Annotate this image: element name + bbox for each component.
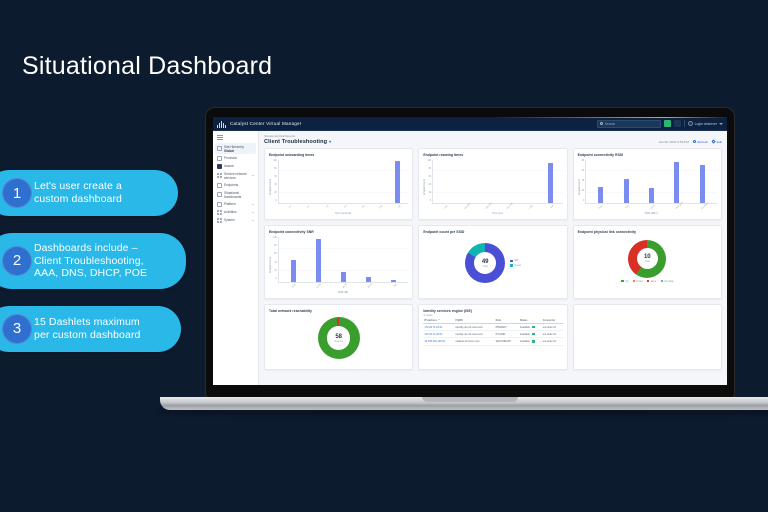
- hamburger-icon[interactable]: [217, 135, 223, 140]
- chevron-down-icon: [252, 175, 254, 176]
- y-tick: 100: [273, 237, 277, 239]
- legend-swatch: [633, 280, 636, 283]
- status-badge: [532, 340, 535, 343]
- sidebar-item-assure[interactable]: Assure: [215, 162, 256, 170]
- chevron-down-icon: [252, 204, 254, 205]
- donut-ring: 49 Total: [465, 243, 505, 283]
- ise-table: IP addressFQDNRoleStatusConnector 172.26…: [423, 318, 562, 346]
- app-title: Catalyst Center Virtual Manager: [230, 121, 301, 126]
- bar[interactable]: [624, 179, 629, 202]
- laptop-base: [160, 397, 768, 410]
- y-tick: 40: [582, 180, 585, 182]
- dashlet-total-network-reachability: Total network reachability 58 Devices: [264, 304, 413, 370]
- callout-number-1: 1: [2, 178, 32, 208]
- y-tick: 0: [427, 200, 431, 202]
- pencil-icon: [712, 139, 716, 143]
- laptop-shadow: [160, 410, 768, 415]
- table-cell-fqdn: identity-ise-10.cisco.com: [455, 331, 495, 338]
- legend-item[interactable]: Wifi: [510, 259, 521, 262]
- chevron-down-icon[interactable]: ▾: [329, 139, 331, 144]
- page-title: Situational Dashboard: [22, 52, 272, 81]
- donut-legend: UpDownErrorNo data: [621, 280, 673, 283]
- assure-icon: [217, 164, 222, 169]
- legend-label: Wifi: [514, 259, 518, 262]
- breadcrumb: Situational Dashboards: [264, 134, 331, 138]
- donut-center-label: Total: [483, 265, 488, 268]
- avatar: [688, 121, 693, 126]
- donut-chart: 10 Total UpDownErrorNo data: [578, 235, 717, 288]
- bar[interactable]: [674, 162, 679, 203]
- table-row[interactable]: 172.26.71.20.01identity-ise-10.cisco.com…: [423, 331, 562, 338]
- dashlet-endpoint-count-per-ssid: Endpoint count per SSID 49 Total WifiGue…: [418, 225, 567, 299]
- main-content: Situational Dashboards Client Troublesho…: [259, 131, 727, 385]
- y-tick: 20: [273, 192, 277, 194]
- y-tick: 0: [273, 278, 277, 280]
- y-axis-label: Endpoint count: [423, 179, 426, 195]
- divider: [684, 120, 685, 127]
- sidebar-item-label: Site Hierarchy: [224, 145, 244, 149]
- search-icon: [600, 122, 603, 125]
- sort-icon[interactable]: [438, 319, 440, 320]
- x-axis-label: Time (seconds): [278, 212, 408, 215]
- table-cell-role: PRIMARY: [495, 324, 519, 331]
- bar[interactable]: [700, 165, 705, 203]
- y-tick: 80: [582, 160, 585, 162]
- bar[interactable]: [395, 161, 400, 203]
- callout-item-1: 1 Let's user create a custom dashboard: [0, 170, 178, 216]
- global-search-input[interactable]: Search: [597, 120, 661, 128]
- y-tick: 20: [427, 192, 431, 194]
- dashlet-title: Endpoint connectivity RSSI: [578, 153, 717, 157]
- bar[interactable]: [341, 272, 346, 281]
- sidebar-item-endpoints[interactable]: Endpoints: [215, 181, 256, 189]
- legend-item[interactable]: Error: [647, 280, 657, 283]
- y-axis-label: Endpoint count: [578, 179, 581, 195]
- search-placeholder: Search: [605, 122, 616, 126]
- services-icon: [217, 173, 222, 178]
- dashlet-row-1: Endpoint onboarding times Endpoint count…: [264, 148, 722, 220]
- dashlet-endpoint-physical-link-connectivity: Endpoint physical link connectivity 10 T…: [573, 225, 722, 299]
- status-badge: [532, 326, 535, 329]
- table-cell-connector: ent-dnac-01: [542, 338, 563, 345]
- dashlet-title: Endpoint physical link connectivity: [578, 230, 717, 234]
- bar-chart: Endpoint count 100806040200 0-11-22-33-4…: [269, 158, 408, 215]
- refresh-icon: [693, 140, 696, 143]
- dashlet-row-2: Endpoint connectivity SNR Endpoint count…: [264, 225, 722, 299]
- bar[interactable]: [391, 280, 396, 281]
- page-header-actions: Jan 20, 2024 3:53 PM Refresh Edit: [659, 140, 722, 145]
- laptop-lid: Catalyst Center Virtual Manager Search L…: [206, 108, 734, 397]
- donut-chart: 49 Total WifiGuest: [423, 235, 562, 292]
- y-tick: 20: [273, 270, 277, 272]
- legend-swatch: [621, 280, 624, 283]
- table-cell-status: Available: [519, 331, 542, 338]
- system-icon: [217, 218, 222, 223]
- sidebar: Site Hierarchy Global Provision Assure: [213, 131, 259, 385]
- edit-button[interactable]: Edit: [712, 140, 722, 144]
- dashlet-title: Endpoint onboarding times: [269, 153, 408, 157]
- laptop-screen: Catalyst Center Virtual Manager Search L…: [213, 117, 727, 385]
- sidebar-item-label: Activities: [224, 210, 250, 214]
- y-tick: 0: [582, 200, 585, 202]
- cisco-logo-icon: [217, 120, 226, 128]
- user-label: Login observer: [695, 122, 717, 126]
- sidebar-item-label: Platform: [224, 202, 250, 206]
- bar-chart: Endpoint count 100806040200 0-5050-10010…: [423, 158, 562, 215]
- legend-item[interactable]: Up: [621, 280, 628, 283]
- status-indicator-icon[interactable]: [664, 120, 671, 127]
- y-tick: 40: [273, 262, 277, 264]
- user-menu[interactable]: Login observer: [688, 121, 723, 126]
- sidebar-item-site-hierarchy[interactable]: Site Hierarchy Global: [215, 143, 256, 154]
- bar[interactable]: [291, 260, 296, 281]
- bar-chart: Endpoint count 806040200 PoorFairGoodVer…: [578, 158, 717, 215]
- y-tick: 80: [273, 168, 277, 170]
- callout-number-3: 3: [2, 314, 32, 344]
- table-cell-ip[interactable]: 172.26.71.18.01: [423, 324, 454, 331]
- chevron-down-icon: [252, 220, 254, 221]
- page-header: Situational Dashboards Client Troublesho…: [264, 134, 722, 145]
- dashlet-endpoint-roaming-times: Endpoint roaming times Endpoint count 10…: [418, 148, 567, 220]
- sidebar-item-situational-dashboards[interactable]: Situational Dashboards: [215, 189, 256, 200]
- plot-area: [278, 160, 408, 204]
- legend-label: Guest: [514, 264, 521, 267]
- y-axis-label: Endpoint count: [269, 257, 272, 273]
- sidebar-item-sub: Global: [224, 149, 254, 153]
- legend-swatch: [647, 280, 650, 283]
- y-tick: 100: [427, 160, 431, 162]
- legend-item[interactable]: Guest: [510, 264, 521, 267]
- dashboard-icon: [217, 192, 222, 197]
- x-axis-label: Time (ms): [432, 212, 562, 215]
- sidebar-item-label: Endpoints: [224, 183, 254, 187]
- sidebar-item-label: Situational Dashboards: [224, 191, 254, 199]
- dashlet-title: Endpoint count per SSID: [423, 230, 562, 234]
- sidebar-item-activities[interactable]: Activities: [215, 208, 256, 216]
- y-tick: 40: [273, 184, 277, 186]
- legend-label: No data: [665, 280, 674, 283]
- dashlet-empty: [573, 304, 722, 370]
- dashlet-title: Identity services engine (ISE): [423, 309, 562, 313]
- dashlet-title: Total network reachability: [269, 309, 408, 313]
- y-tick: 60: [427, 176, 431, 178]
- app-topbar: Catalyst Center Virtual Manager Search L…: [213, 117, 727, 131]
- table-row[interactable]: 10.195.201.100.01catalyst-10.cisco.comSE…: [423, 338, 562, 345]
- dashlet-title: Endpoint connectivity SNR: [269, 230, 408, 234]
- sidebar-item-services[interactable]: Service network services: [215, 170, 256, 181]
- plot-area: [432, 160, 562, 204]
- bar[interactable]: [649, 188, 654, 203]
- topbar-actions: Search Login observer: [597, 120, 723, 128]
- table-row[interactable]: 172.26.71.18.01identity-ise-10.cisco.com…: [423, 324, 562, 331]
- y-tick: 20: [582, 190, 585, 192]
- legend-label: Error: [651, 280, 657, 283]
- dashlet-row-3: Total network reachability 58 Devices: [264, 304, 722, 370]
- help-icon[interactable]: [674, 120, 681, 127]
- sidebar-item-label: Service network services: [224, 172, 250, 180]
- dashlet-endpoint-connectivity-snr: Endpoint connectivity SNR Endpoint count…: [264, 225, 413, 299]
- bar[interactable]: [316, 239, 321, 282]
- sidebar-item-label: System: [224, 218, 250, 222]
- table-cell-ip[interactable]: 10.195.201.100.01: [423, 338, 454, 345]
- y-tick: 0: [273, 200, 277, 202]
- table-cell-role: PXGRID: [495, 331, 519, 338]
- donut-ring: 58 Devices: [318, 317, 360, 359]
- status-badge: [532, 333, 535, 336]
- table-cell-status: Available: [519, 324, 542, 331]
- endpoints-icon: [217, 183, 222, 188]
- callout-item-2: 2 Dashboards include – Client Troublesho…: [0, 233, 186, 289]
- provision-icon: [217, 156, 222, 161]
- sidebar-item-provision[interactable]: Provision: [215, 154, 256, 162]
- y-tick: 80: [427, 168, 431, 170]
- bar[interactable]: [598, 187, 603, 202]
- y-tick: 60: [273, 176, 277, 178]
- activities-icon: [217, 210, 222, 215]
- bar-chart: Endpoint count 100806040200 0-1010-2020-…: [269, 235, 408, 294]
- bar[interactable]: [548, 163, 553, 203]
- platform-icon: [217, 202, 222, 207]
- table-cell-status: Available: [519, 338, 542, 345]
- donut-center-label: Total: [645, 260, 650, 263]
- callout-number-2: 2: [2, 246, 32, 276]
- y-tick: 100: [273, 160, 277, 162]
- callout-item-3: 3 15 Dashlets maximum per custom dashboa…: [0, 306, 181, 352]
- plot-area: [585, 160, 717, 204]
- legend-item[interactable]: Down: [633, 280, 643, 283]
- table-cell-connector: ent-dnac-01: [542, 331, 563, 338]
- app-body: Site Hierarchy Global Provision Assure: [213, 131, 727, 385]
- y-tick: 80: [273, 245, 277, 247]
- last-updated-timestamp: Jan 20, 2024 3:53 PM: [659, 140, 689, 144]
- callout-text-1: Let's user create a custom dashboard: [34, 180, 122, 205]
- legend-label: Down: [637, 280, 643, 283]
- legend-item[interactable]: No data: [661, 280, 674, 283]
- legend-label: Up: [625, 280, 628, 283]
- donut-chart: 58 Devices: [269, 314, 408, 363]
- table-cell-ip[interactable]: 172.26.71.20.01: [423, 331, 454, 338]
- refresh-button[interactable]: Refresh: [693, 140, 708, 144]
- callout-text-3: 15 Dashlets maximum per custom dashboard: [34, 316, 140, 341]
- table-cell-connector: ent-dnac-01: [542, 324, 563, 331]
- dashlet-endpoint-onboarding-times: Endpoint onboarding times Endpoint count…: [264, 148, 413, 220]
- dashlet-identity-services-engine: Identity services engine (ISE) 3 nodes I…: [418, 304, 567, 370]
- table-cell-fqdn: catalyst-10.cisco.com: [455, 338, 495, 345]
- dashlet-endpoint-connectivity-rssi: Endpoint connectivity RSSI Endpoint coun…: [573, 148, 722, 220]
- dashlet-title: Endpoint roaming times: [423, 153, 562, 157]
- bar[interactable]: [366, 277, 371, 282]
- sidebar-item-system[interactable]: System: [215, 216, 256, 224]
- sites-icon: [217, 146, 222, 151]
- y-tick: 40: [427, 184, 431, 186]
- dashboard-title: Client Troubleshooting▾: [264, 139, 331, 145]
- donut-center-label: Devices: [334, 340, 343, 343]
- laptop-mockup: Catalyst Center Virtual Manager Search L…: [160, 108, 768, 415]
- dashlet-subtitle: 3 nodes: [423, 314, 562, 317]
- y-tick: 60: [273, 253, 277, 255]
- legend-swatch: [510, 260, 513, 263]
- donut-ring: 10 Total: [628, 240, 666, 278]
- plot-area: [278, 237, 408, 283]
- chevron-down-icon: [252, 212, 254, 213]
- sidebar-item-platform[interactable]: Platform: [215, 200, 256, 208]
- sidebar-item-label: Assure: [224, 164, 254, 168]
- table-cell-role: SECONDARY: [495, 338, 519, 345]
- legend-swatch: [510, 264, 513, 267]
- table-cell-fqdn: identity-ise-10.cisco.com: [455, 324, 495, 331]
- donut-legend: WifiGuest: [510, 259, 521, 267]
- y-axis-label: Endpoint count: [269, 179, 272, 195]
- sidebar-item-label: Provision: [224, 156, 254, 160]
- callout-text-2: Dashboards include – Client Troubleshoot…: [34, 242, 147, 280]
- legend-swatch: [661, 280, 664, 283]
- chevron-down-icon: [719, 123, 723, 125]
- y-tick: 60: [582, 170, 585, 172]
